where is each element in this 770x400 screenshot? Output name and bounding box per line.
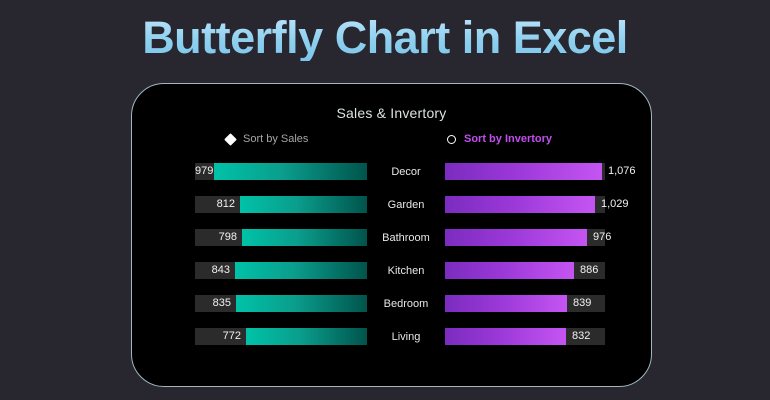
sales-bar[interactable] <box>246 328 367 345</box>
sort-by-sales-option[interactable]: Sort by Sales <box>226 133 308 145</box>
sales-value-label: 979 <box>195 163 214 180</box>
sales-bar[interactable] <box>236 295 367 312</box>
page-title: Butterfly Chart in Excel <box>0 14 770 61</box>
invertory-value-label: 886 <box>574 262 605 279</box>
sales-value-label: 772 <box>195 328 246 345</box>
invertory-track: 886 <box>445 262 605 279</box>
chart-row: 843Kitchen886 <box>132 262 651 279</box>
hollow-circle-icon[interactable] <box>447 135 456 144</box>
chart-row: 979Decor1,076 <box>132 163 651 180</box>
sales-bar[interactable] <box>214 163 367 180</box>
invertory-bar[interactable] <box>445 328 566 345</box>
sort-by-sales-label: Sort by Sales <box>243 133 308 145</box>
sales-bar[interactable] <box>240 196 367 213</box>
sort-by-invertory-option[interactable]: Sort by Invertory <box>447 133 552 145</box>
sales-value-label: 812 <box>195 196 240 213</box>
category-label: Bathroom <box>367 232 445 244</box>
invertory-bar[interactable] <box>445 196 595 213</box>
chart-rows: 979Decor1,076812Garden1,029798Bathroom97… <box>132 163 651 345</box>
sales-value-label: 798 <box>195 229 242 246</box>
category-label: Bedroom <box>367 298 445 310</box>
invertory-track: 1,076 <box>445 163 605 180</box>
invertory-bar[interactable] <box>445 262 574 279</box>
filled-diamond-icon[interactable] <box>224 133 237 146</box>
sales-bar[interactable] <box>242 229 367 246</box>
sales-value-label: 843 <box>195 262 235 279</box>
sales-track: 979 <box>195 163 367 180</box>
chart-row: 798Bathroom976 <box>132 229 651 246</box>
sales-track: 772 <box>195 328 367 345</box>
invertory-value-label: 832 <box>566 328 605 345</box>
chart-row: 835Bedroom839 <box>132 295 651 312</box>
invertory-value-label: 976 <box>587 229 605 246</box>
sales-track: 835 <box>195 295 367 312</box>
invertory-value-label: 1,029 <box>595 196 605 213</box>
sort-controls: Sort by Sales Sort by Invertory <box>132 133 651 155</box>
category-label: Living <box>367 331 445 343</box>
sales-value-label: 835 <box>195 295 236 312</box>
sales-bar[interactable] <box>235 262 367 279</box>
invertory-bar[interactable] <box>445 295 567 312</box>
invertory-bar[interactable] <box>445 229 587 246</box>
sort-by-invertory-label: Sort by Invertory <box>464 133 552 145</box>
chart-row: 772Living832 <box>132 328 651 345</box>
invertory-track: 839 <box>445 295 605 312</box>
invertory-track: 832 <box>445 328 605 345</box>
chart-row: 812Garden1,029 <box>132 196 651 213</box>
category-label: Garden <box>367 199 445 211</box>
invertory-bar[interactable] <box>445 163 602 180</box>
invertory-value-label: 1,076 <box>602 163 608 180</box>
invertory-track: 1,029 <box>445 196 605 213</box>
sales-track: 812 <box>195 196 367 213</box>
sales-track: 798 <box>195 229 367 246</box>
sales-track: 843 <box>195 262 367 279</box>
invertory-value-label: 839 <box>567 295 605 312</box>
category-label: Decor <box>367 166 445 178</box>
chart-card: Sales & Invertory Sort by Sales Sort by … <box>131 83 652 387</box>
category-label: Kitchen <box>367 265 445 277</box>
invertory-track: 976 <box>445 229 605 246</box>
chart-title: Sales & Invertory <box>132 105 651 121</box>
